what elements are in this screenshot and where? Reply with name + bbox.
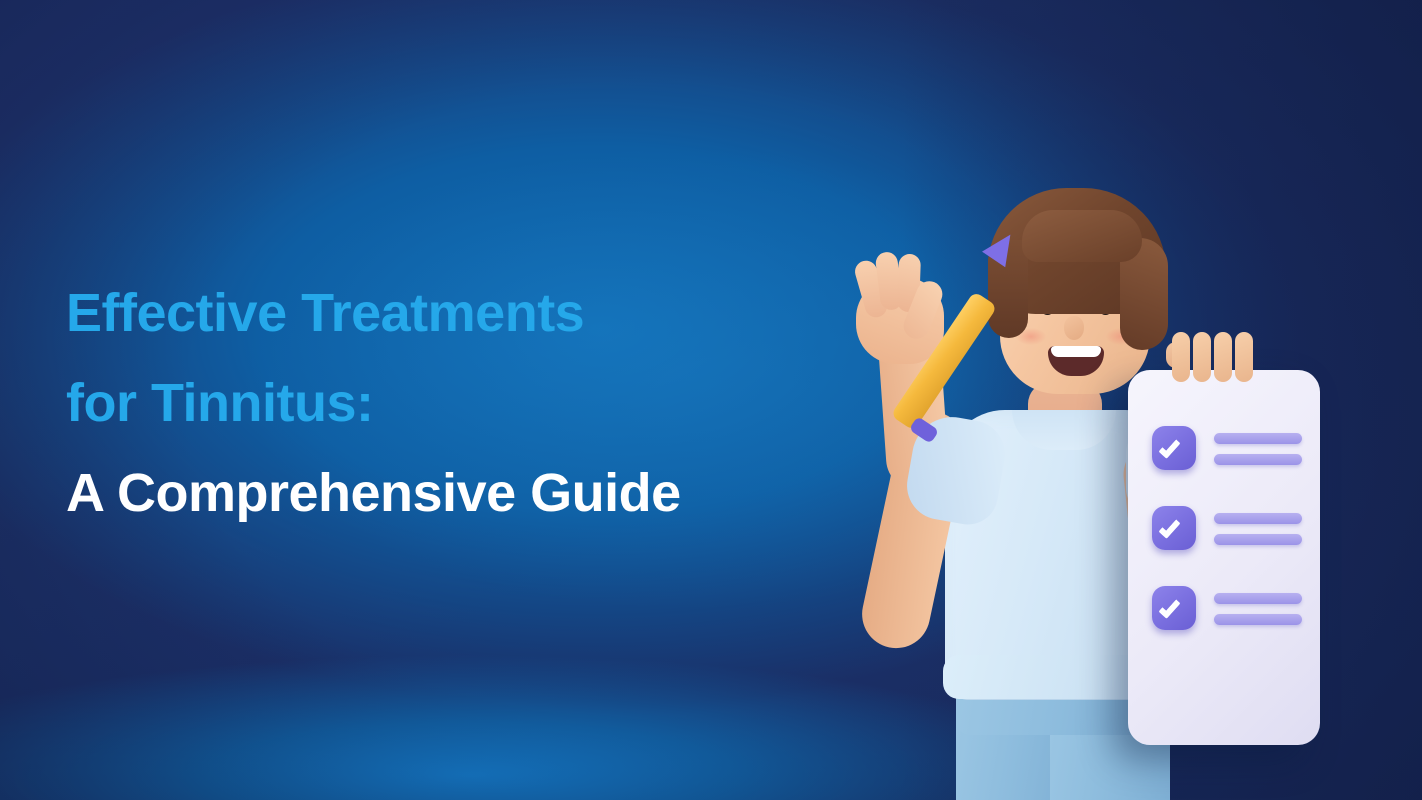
headline-line-3: A Comprehensive Guide [66,448,826,538]
checklist-clipboard [1128,370,1320,745]
checklist-row [1152,426,1302,474]
check-icon [1158,596,1180,619]
check-icon [1158,436,1180,459]
text-line [1214,454,1302,465]
teeth [1051,346,1101,357]
text-line [1214,433,1302,444]
checkbox-checked-icon [1152,426,1196,470]
headline-line-2: for Tinnitus: [66,358,826,448]
checklist-row [1152,586,1302,634]
right-finger-3 [1214,332,1232,382]
checklist-row [1152,506,1302,554]
text-line [1214,614,1302,625]
text-line [1214,593,1302,604]
right-finger-4 [1235,332,1253,382]
checkbox-checked-icon [1152,506,1196,550]
check-icon [1158,516,1180,539]
page-title: Effective Treatments for Tinnitus: A Com… [66,268,826,538]
right-hand [1172,332,1258,384]
text-line [1214,534,1302,545]
text-line [1214,513,1302,524]
headline-line-1: Effective Treatments [66,268,826,358]
hair-fringe [1022,210,1142,262]
right-finger-2 [1193,332,1211,382]
checkbox-checked-icon [1152,586,1196,630]
nose [1064,316,1084,340]
hero-banner: Effective Treatments for Tinnitus: A Com… [0,0,1422,800]
character-illustration [760,110,1422,800]
right-finger-1 [1172,332,1190,382]
